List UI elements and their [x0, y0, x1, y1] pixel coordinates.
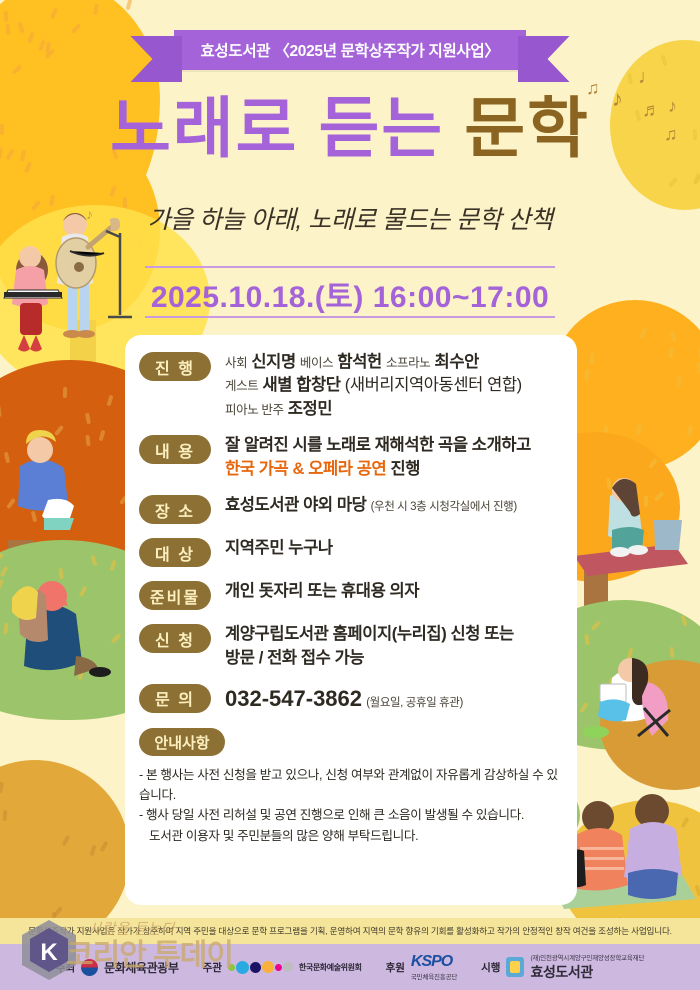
leaf-speck — [53, 906, 63, 917]
info-card: 진 행사회 신지명 베이스 함석헌 소프라노 최수안게스트 새별 합창단 (새버… — [125, 335, 577, 905]
leaf-speck — [579, 702, 588, 713]
info-row-line: 효성도서관 야외 마당 (우천 시 3층 시청각실에서 진행) — [225, 494, 563, 517]
footer-role-label: 후원 — [386, 960, 405, 975]
library-logo-icon — [506, 957, 524, 977]
footer-logo-bar: 주최 문화체육관광부 주관 한국문화예술위원회 후원 KSPO 국민체육진흥공단 — [0, 944, 700, 990]
info-row-value: 개인 돗자리 또는 휴대용 의자 — [225, 580, 563, 603]
leaf-speck — [36, 475, 46, 486]
leaf-speck — [644, 496, 648, 507]
leaf-speck — [668, 177, 678, 188]
notice-list: - 본 행사는 사전 신청을 받고 있으나, 신청 여부와 관계없이 자유롭게 … — [139, 765, 563, 846]
info-row-badge: 준비물 — [139, 581, 211, 610]
notice-badge: 안내사항 — [139, 728, 225, 756]
korea-flag-icon — [81, 959, 98, 976]
info-text-small: (월요일, 공휴일 휴관) — [366, 697, 463, 709]
leaf-speck — [93, 4, 99, 16]
footer-org-name: 한국문화예술위원회 — [299, 962, 362, 973]
footer-org-name: 효성도서관 — [530, 964, 592, 980]
notice-item: - 행사 당일 사전 리허설 및 공연 진행으로 인해 큰 소음이 발생될 수 … — [139, 805, 563, 845]
info-text-label: 사회 — [225, 356, 247, 370]
leaf-speck — [4, 622, 9, 633]
info-text-small: (우천 시 3층 시청각실에서 진행) — [371, 501, 517, 513]
info-row-line: 사회 신지명 베이스 함석헌 소프라노 최수안 — [225, 351, 563, 374]
illustration-person-chair-right — [560, 640, 700, 750]
leaf-speck — [136, 236, 143, 248]
leaf-speck — [624, 884, 632, 896]
leaf-speck — [0, 552, 5, 562]
info-row-line: 지역주민 누구나 — [225, 537, 563, 560]
leaf-speck — [670, 863, 676, 875]
footer-organizer-host-2: 후원 KSPO 국민체육진흥공단 — [386, 953, 458, 981]
info-text-bold: 잘 알려진 시를 노래로 재해석한 곡을 소개하고 — [225, 436, 531, 454]
info-row-line: 계양구립도서관 홈페이지(누리집) 신청 또는 — [225, 623, 563, 646]
leaf-speck — [2, 810, 7, 821]
leaf-speck — [614, 526, 622, 538]
leaf-speck — [680, 817, 689, 829]
info-row-badge: 문 의 — [139, 684, 211, 713]
info-text-bold: 개인 돗자리 또는 휴대용 의자 — [225, 582, 419, 600]
leaf-speck — [0, 565, 8, 577]
info-text-bold: 진행 — [390, 460, 420, 478]
info-text-label: 피아노 반주 — [225, 403, 284, 417]
info-text-bold: 계양구립도서관 홈페이지(누리집) 신청 또는 — [225, 625, 514, 643]
arts-council-logo-icon — [228, 961, 293, 974]
leaf-speck — [79, 586, 88, 598]
music-note-icon: ♪ — [612, 86, 623, 112]
leaf-speck — [693, 172, 700, 184]
info-row-line: 방문 / 전화 접수 가능 — [225, 647, 563, 670]
info-row-value: 계양구립도서관 홈페이지(누리집) 신청 또는방문 / 전화 접수 가능 — [225, 623, 563, 670]
leaf-speck — [36, 165, 42, 177]
leaf-speck — [21, 461, 32, 472]
info-text-label: 소프라노 — [386, 356, 430, 370]
leaf-speck — [4, 452, 10, 464]
leaf-speck — [668, 347, 674, 358]
leaf-speck — [31, 510, 37, 522]
leaf-speck — [0, 781, 4, 793]
leaf-speck — [53, 486, 59, 498]
divider-bottom — [145, 316, 555, 318]
poster-subtitle: 가을 하늘 아래, 노래로 물드는 문학 산책 — [0, 200, 700, 236]
footer-organizer-host-3: 시행 (재)인천광역시계양구인재양성장학교육재단 효성도서관 — [481, 952, 644, 982]
leaf-speck — [112, 173, 117, 184]
notice-item-subtext: 도서관 이용자 및 주민분들의 많은 양해 부탁드립니다. — [139, 826, 563, 846]
leaf-speck — [78, 669, 85, 681]
library-logo-text: (재)인천광역시계양구인재양성장학교육재단 효성도서관 — [530, 952, 644, 982]
leaf-speck — [125, 0, 132, 10]
info-text-plain: (새버리지역아동센터 연합) — [345, 376, 522, 394]
leaf-speck — [77, 240, 84, 252]
leaf-speck — [584, 633, 589, 644]
info-text-bold: 지역주민 누구나 — [225, 539, 333, 557]
ribbon-banner: 효성도서관 〈2025년 문학상주작가 지원사업〉 — [0, 30, 700, 70]
info-text-bold: 신지명 — [251, 353, 295, 371]
leaf-speck — [627, 73, 633, 85]
info-row: 장 소효성도서관 야외 마당 (우천 시 3층 시청각실에서 진행) — [139, 494, 563, 524]
info-row: 대 상지역주민 누구나 — [139, 537, 563, 567]
leaf-speck — [654, 492, 665, 503]
leaf-speck — [109, 186, 116, 198]
info-text-bold: 방문 / 전화 접수 가능 — [225, 649, 364, 667]
leaf-speck — [40, 250, 48, 262]
tree-trunk-right-1 — [611, 455, 635, 525]
leaf-speck — [6, 498, 16, 509]
leaf-speck — [635, 424, 642, 436]
info-row: 신 청계양구립도서관 홈페이지(누리집) 신청 또는방문 / 전화 접수 가능 — [139, 623, 563, 670]
leaf-speck — [617, 478, 621, 489]
info-row: 준비물개인 돗자리 또는 휴대용 의자 — [139, 580, 563, 610]
leaf-speck — [21, 486, 30, 498]
tree-trunk-right-2 — [584, 560, 608, 616]
footer-role-label: 시행 — [481, 960, 500, 975]
music-note-icon: ♬ — [642, 100, 661, 122]
divider-top — [145, 266, 555, 268]
footer-org-sub: (재)인천광역시계양구인재양성장학교육재단 — [530, 952, 644, 962]
leaf-speck — [579, 431, 589, 442]
footer-role-label: 주관 — [203, 960, 222, 975]
leaf-speck — [670, 646, 675, 657]
footer-role-label: 주최 — [56, 960, 75, 975]
info-row-value: 032-547-3862 (월요일, 공휴일 휴관) — [225, 683, 563, 714]
leaf-speck — [11, 189, 20, 200]
leaf-speck — [696, 362, 700, 373]
leaf-speck — [50, 8, 58, 20]
leaf-speck — [687, 425, 693, 437]
footer-organizer-host-0: 주최 문화체육관광부 — [56, 959, 179, 976]
leaf-speck — [89, 845, 96, 857]
info-text-highlight: 한국 가곡 & 오페라 공연 — [225, 460, 386, 478]
footer-org-name: 문화체육관광부 — [104, 959, 178, 976]
music-note-icon: ♩ — [638, 66, 658, 89]
event-datetime: 2025.10.18.(토) 16:00~17:00 — [0, 272, 700, 316]
leaf-speck — [597, 433, 602, 444]
leaf-speck — [54, 425, 64, 436]
info-row: 문 의032-547-3862 (월요일, 공휴일 휴관) — [139, 683, 563, 714]
leaf-speck — [24, 162, 32, 174]
leaf-speck — [33, 476, 44, 487]
info-text-label: 게스트 — [225, 379, 258, 393]
info-text-bold: 최수안 — [435, 353, 479, 371]
info-row-line: 피아노 반주 조정민 — [225, 398, 563, 421]
info-text-label: 베이스 — [300, 356, 333, 370]
info-text-bold: 새별 합창단 — [263, 376, 341, 394]
music-note-icon: ♪ — [668, 96, 677, 117]
leaf-speck — [579, 843, 587, 855]
leaf-speck — [59, 568, 64, 579]
leaf-speck — [606, 477, 611, 488]
info-text-bold: 함석헌 — [337, 353, 381, 371]
leaf-speck — [681, 614, 688, 626]
leaf-speck — [85, 413, 91, 425]
leaf-speck — [110, 560, 117, 572]
leaf-speck — [111, 633, 122, 644]
leaf-speck — [639, 328, 647, 340]
kspo-logo: KSPO 국민체육진흥공단 — [411, 953, 457, 981]
info-row-badge: 대 상 — [139, 538, 211, 567]
leaf-speck — [609, 678, 614, 689]
leaf-speck — [627, 648, 634, 660]
tree-trunk-top-left — [70, 320, 96, 390]
info-row-badge: 내 용 — [139, 435, 211, 464]
poster-root: 효성도서관 〈2025년 문학상주작가 지원사업〉 노래로 듣는 문학 ♫ ♪ … — [0, 0, 700, 990]
leaf-speck — [627, 673, 635, 685]
leaf-speck — [99, 841, 108, 852]
leaf-speck — [590, 353, 595, 364]
info-row-badge: 신 청 — [139, 624, 211, 653]
leaf-speck — [0, 579, 4, 591]
leaf-speck — [663, 867, 668, 878]
leaf-speck — [99, 430, 106, 442]
notice-item-text: - 행사 당일 사전 리허설 및 공연 진행으로 인해 큰 소음이 발생될 수 … — [139, 808, 524, 822]
info-row-value: 사회 신지명 베이스 함석헌 소프라노 최수안게스트 새별 합창단 (새버리지역… — [225, 351, 563, 421]
footer-description: 문학상주작가 지원사업은 작가가 상주하며 지역 주민을 대상으로 문학 프로그… — [0, 918, 700, 944]
title-part-2: 문학 — [464, 91, 589, 165]
leaf-speck — [614, 676, 621, 688]
info-rows: 진 행사회 신지명 베이스 함석헌 소프라노 최수안게스트 새별 합창단 (새버… — [139, 351, 563, 714]
tree-shape-gold-right — [600, 660, 700, 790]
info-row: 내 용잘 알려진 시를 노래로 재해석한 곡을 소개하고한국 가곡 & 오페라 … — [139, 434, 563, 481]
leaf-speck — [90, 555, 97, 567]
notice-section: 안내사항 - 본 행사는 사전 신청을 받고 있으나, 신청 여부와 관계없이 … — [139, 728, 563, 846]
info-row-value: 잘 알려진 시를 노래로 재해석한 곡을 소개하고한국 가곡 & 오페라 공연 … — [225, 434, 563, 481]
leaf-speck — [61, 835, 70, 847]
leaf-speck — [676, 375, 682, 387]
info-row-line: 032-547-3862 (월요일, 공휴일 휴관) — [225, 683, 563, 714]
info-row-line: 잘 알려진 시를 노래로 재해석한 곡을 소개하고 — [225, 434, 563, 457]
title-part-1: 노래로 듣는 — [110, 91, 444, 165]
illustration-person-picnic-right — [564, 470, 694, 580]
info-row-value: 지역주민 누구나 — [225, 537, 563, 560]
music-note-icon: ♫ — [586, 78, 600, 99]
page-title: 노래로 듣는 문학 — [0, 95, 700, 161]
leaf-speck — [61, 499, 65, 510]
tree-trunk-orange — [8, 540, 34, 630]
leaf-speck — [664, 844, 675, 855]
info-row: 진 행사회 신지명 베이스 함석헌 소프라노 최수안게스트 새별 합창단 (새버… — [139, 351, 563, 421]
leaf-speck — [670, 330, 677, 342]
info-text-phone: 032-547-3862 — [225, 686, 362, 711]
footer-organizer-host-1: 주관 한국문화예술위원회 — [203, 960, 362, 975]
leaf-speck — [4, 11, 9, 22]
leaf-speck — [643, 855, 653, 866]
footer-org-name: KSPO — [411, 953, 452, 970]
leaf-speck — [62, 387, 66, 398]
info-row-line: 게스트 새별 합창단 (새버리지역아동센터 연합) — [225, 374, 563, 397]
leaf-speck — [585, 833, 589, 844]
leaf-speck — [603, 724, 613, 735]
leaf-speck — [584, 369, 590, 380]
info-text-bold: 효성도서관 야외 마당 — [225, 496, 366, 514]
info-row-value: 효성도서관 야외 마당 (우천 시 3층 시청각실에서 진행) — [225, 494, 563, 517]
ribbon-label: 효성도서관 〈2025년 문학상주작가 지원사업〉 — [174, 30, 525, 70]
footer-org-sub: 국민체육진흥공단 — [411, 971, 457, 981]
info-row-badge: 장 소 — [139, 495, 211, 524]
leaf-speck — [603, 425, 608, 436]
leaf-speck — [85, 435, 90, 446]
leaf-speck — [630, 513, 635, 524]
info-row-badge: 진 행 — [139, 352, 211, 381]
notice-item: - 본 행사는 사전 신청을 받고 있으나, 신청 여부와 관계없이 자유롭게 … — [139, 765, 563, 805]
info-row-line: 한국 가곡 & 오페라 공연 진행 — [225, 458, 563, 481]
leaf-speck — [591, 620, 602, 630]
music-note-icon: ♫ — [664, 124, 678, 145]
leaf-speck — [106, 394, 113, 406]
leaf-speck — [648, 458, 658, 469]
info-text-bold: 조정민 — [288, 400, 332, 418]
leaf-speck — [695, 885, 700, 897]
leaf-speck — [0, 405, 1, 416]
leaf-speck — [616, 735, 626, 746]
info-row-line: 개인 돗자리 또는 휴대용 의자 — [225, 580, 563, 603]
notice-item-text: - 본 행사는 사전 신청을 받고 있으나, 신청 여부와 관계없이 자유롭게 … — [139, 768, 558, 802]
leaf-speck — [693, 174, 700, 185]
